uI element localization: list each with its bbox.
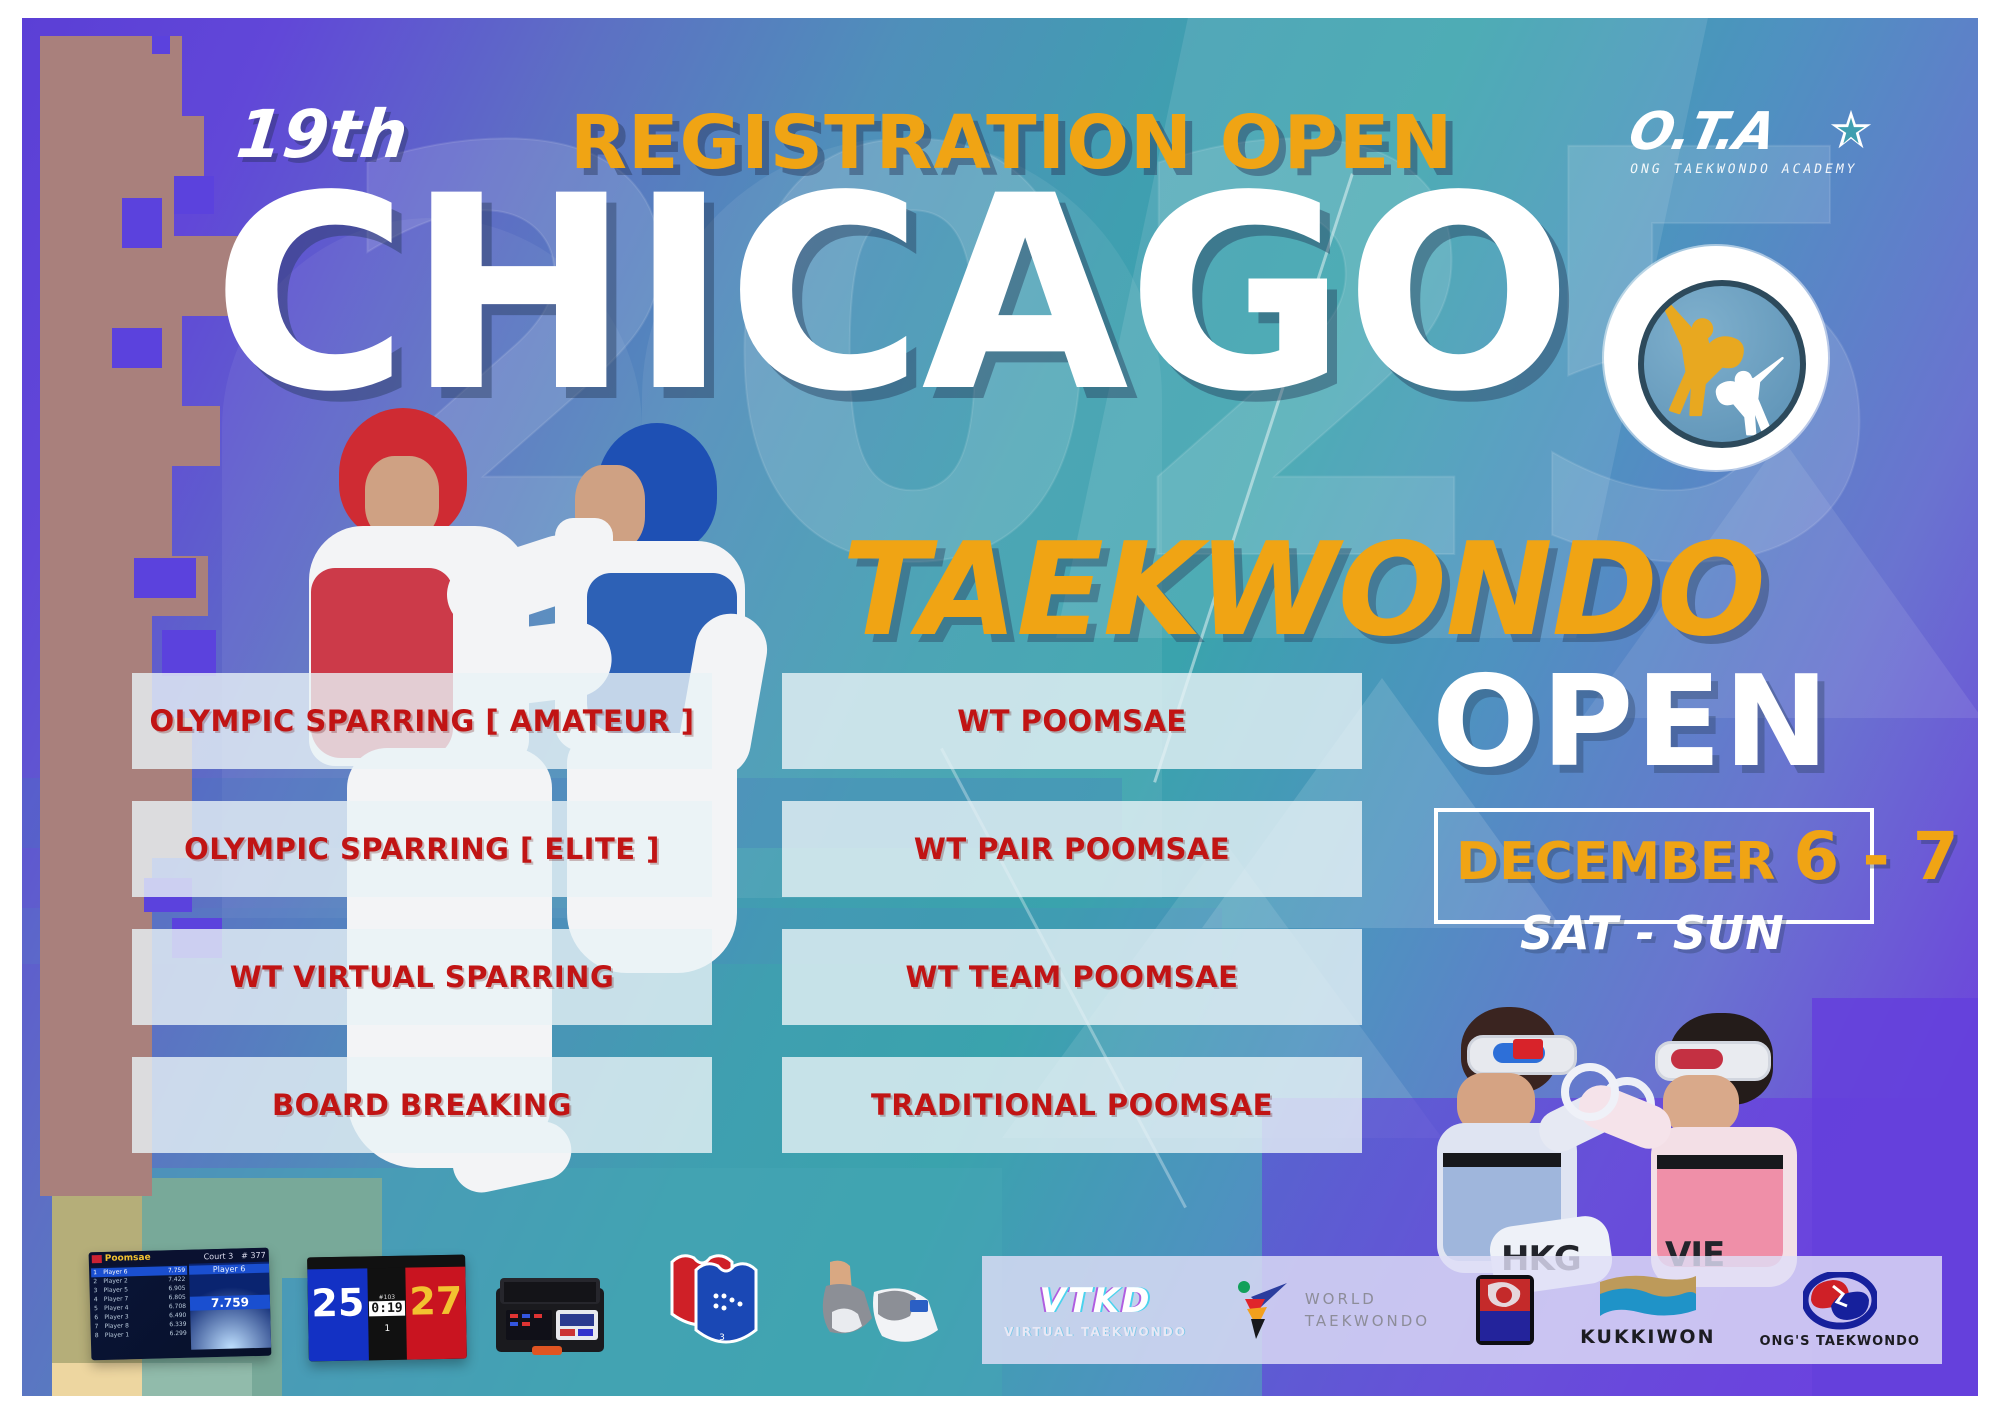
organizer-logo-tagline: ONG TAEKWONDO ACADEMY [1629, 162, 1872, 177]
sponsor-kukkiwon[interactable]: KUKKIWON [1580, 1272, 1715, 1348]
ongs-taekwondo-icon [1803, 1272, 1877, 1330]
vr-athlete-hkg: HKG [1417, 1003, 1647, 1293]
sponsor-ongs-taekwondo[interactable]: ONG'S TAEKWONDO [1759, 1272, 1919, 1349]
scoreboard-blue-score: 25 [307, 1268, 368, 1337]
kukkiwon-wave-icon [1598, 1272, 1698, 1322]
world-taekwondo-line1: WORLD [1305, 1288, 1430, 1311]
event-date: DECEMBER 6 - 7 [1456, 818, 1959, 895]
page-title: CHICAGO [212, 168, 1571, 423]
electronic-foot-sensors [812, 1256, 952, 1362]
event-button-wt-virtual-sparring[interactable]: WT VIRTUAL SPARRING [132, 929, 712, 1025]
tournament-poster: 2025 [22, 18, 1978, 1396]
svg-text:3: 3 [719, 1333, 725, 1343]
event-button-olympic-sparring-amateur[interactable]: OLYMPIC SPARRING [ AMATEUR ] [132, 673, 712, 769]
event-month: DECEMBER [1456, 832, 1775, 892]
world-taekwondo-line2: TAEKWONDO [1305, 1310, 1430, 1333]
vtkd-logo-icon: VTKD [1039, 1281, 1151, 1321]
taekwondo-kick-emblem [1604, 246, 1828, 470]
event-weekdays: SAT - SUN [1520, 906, 1785, 960]
daedo-device-icon [1474, 1273, 1536, 1347]
vie-vr-controller [1561, 1063, 1619, 1121]
sponsor-world-taekwondo[interactable]: WORLD TAEKWONDO [1231, 1277, 1430, 1343]
event-button-wt-pair-poomsae[interactable]: WT PAIR POOMSAE [782, 801, 1362, 897]
scoreboard-red-score: 27 [405, 1267, 466, 1336]
hkg-hogu-strap [1443, 1153, 1561, 1167]
scoreboard-red-side: 27 [405, 1267, 467, 1360]
hkg-flag-patch [1513, 1039, 1543, 1059]
virtual-taekwondo-photo: HKG VIE [1417, 993, 1887, 1293]
red-athlete-glove [555, 518, 613, 576]
event-button-wt-team-poomsae[interactable]: WT TEAM POOMSAE [782, 929, 1362, 1025]
scoreboard-clock: 0:19 [369, 1301, 405, 1317]
poomsae-logo-icon [92, 1255, 102, 1263]
vie-vr-lens [1671, 1049, 1723, 1069]
poomsae-current-score: 7.759 [190, 1295, 270, 1311]
event-button-wt-poomsae[interactable]: WT POOMSAE [782, 673, 1362, 769]
event-button-traditional-poomsae[interactable]: TRADITIONAL POOMSAE [782, 1057, 1362, 1153]
ongs-taekwondo-label: ONG'S TAEKWONDO [1759, 1334, 1919, 1349]
electronic-protector-case [492, 1272, 608, 1360]
hogu-chest-protectors: 3 [658, 1244, 776, 1364]
table-row: 8 Player 1 6.299 [93, 1329, 189, 1341]
sponsor-bar: VTKD VIRTUAL TAEKWONDO WORLD TAEKWONDO [982, 1256, 1942, 1364]
poomsae-rank-table: 1 Player 6 7.759 2 Player 2 7.422 3 Play… [89, 1264, 191, 1353]
poomsae-scoring-display: Poomsae Court 3 # 377 1 Player 6 7.759 2… [89, 1248, 272, 1361]
page-title-suffix: OPEN [1432, 648, 1831, 795]
vr-athlete-vie: VIE [1617, 1003, 1857, 1293]
sponsor-vtkd[interactable]: VTKD VIRTUAL TAEKWONDO [1004, 1281, 1187, 1339]
emblem-inner-disc [1638, 280, 1806, 448]
poomsae-current-player-panel: Player 6 7.759 [189, 1262, 271, 1350]
event-button-olympic-sparring-elite[interactable]: OLYMPIC SPARRING [ ELITE ] [132, 801, 712, 897]
scoreboard-blue-side: 25 [307, 1268, 369, 1361]
event-button-board-breaking[interactable]: BOARD BREAKING [132, 1057, 712, 1153]
event-days: 6 - 7 [1793, 818, 1958, 895]
poomsae-header-label: Poomsae [105, 1253, 151, 1264]
sponsor-daedo[interactable] [1474, 1273, 1536, 1347]
poomsae-bout-number: # 377 [241, 1250, 266, 1260]
emblem-figures-icon [1644, 286, 1800, 442]
poomsae-current-player: Player 6 [189, 1264, 269, 1275]
world-taekwondo-icon [1231, 1277, 1293, 1343]
sparring-scoreboard: 25 #103 0:19 1 27 [307, 1255, 467, 1362]
poomsae-court-label: Court 3 [204, 1251, 234, 1261]
vtkd-tagline: VIRTUAL TAEKWONDO [1004, 1325, 1187, 1339]
vie-face [1663, 1075, 1739, 1133]
vie-hogu-strap [1657, 1155, 1783, 1169]
page-subtitle: TAEKWONDO [842, 516, 1765, 665]
scoreboard-round: 1 [384, 1324, 390, 1334]
star-burst-icon [1828, 108, 1874, 154]
kukkiwon-label: KUKKIWON [1580, 1326, 1715, 1348]
organizer-logo[interactable]: O.T.A ONG TAEKWONDO ACADEMY [1630, 106, 1870, 178]
